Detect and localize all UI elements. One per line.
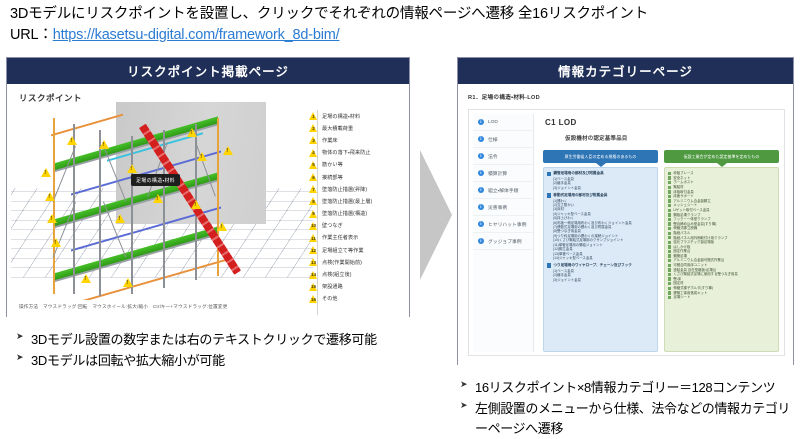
risk-point-label: 点検(組立後) — [322, 271, 352, 278]
breadcrumb: R1．足場の構造・材料-LOD — [468, 93, 540, 101]
risk-point-label: 壁つなぎ — [322, 222, 343, 229]
list-item-label: 足場シート — [673, 295, 690, 300]
risk-point-label: 作業主任者表示 — [322, 234, 358, 241]
risk-point-label: その他 — [322, 295, 338, 302]
risk-marker-4[interactable] — [223, 146, 233, 155]
bullet-square-icon — [668, 172, 671, 175]
bullet-square-icon — [668, 291, 671, 294]
bullet-square-icon — [668, 199, 671, 202]
bullet-item: ➤16リスクポイント×8情報カテゴリー＝128コンテンツ — [460, 378, 795, 398]
heading-line-1: 3Dモデルにリスクポイントを設置し、クリックでそれぞれの情報ページへ遷移 全16… — [10, 4, 790, 25]
bullet-square-icon — [668, 287, 671, 290]
list-item: 足場シート — [668, 295, 775, 300]
content-columns: 厚生労働省人臣の定める規格のあるもの鋼管足場用の部材及び附属金具(1)ベース金具… — [543, 150, 779, 352]
risk-point-item-16[interactable]: 16その他 — [309, 293, 404, 305]
info-dot-icon — [478, 204, 484, 210]
menu-item-2[interactable]: 法令 — [473, 148, 533, 165]
chevron-bullet-icon: ➤ — [460, 399, 475, 413]
risk-marker-15[interactable] — [81, 274, 91, 283]
scaffold-top-ledger — [51, 114, 123, 137]
risk-marker-1[interactable] — [67, 136, 77, 145]
bullet-square-icon — [668, 245, 671, 248]
bullet-square-icon — [668, 264, 671, 267]
risk-point-marker-icon: 1 — [309, 112, 318, 120]
page-heading: 3Dモデルにリスクポイントを設置し、クリックでそれぞれの情報ページへ遷移 全16… — [10, 4, 790, 46]
risk-point-item-4[interactable]: 4物体の落下・飛来防止 — [309, 147, 404, 159]
risk-point-marker-icon: 3 — [309, 136, 318, 144]
risk-point-label: 接続部等 — [322, 174, 343, 181]
risk-marker-11[interactable] — [153, 194, 163, 203]
model-operation-caption: 操作方法 マウスドラッグ:回転 マウスホイール:拡大/縮小 Ctrlキー+マウス… — [19, 304, 228, 310]
bullet-square-icon — [668, 227, 671, 230]
risk-point-item-10[interactable]: 10壁つなぎ — [309, 220, 404, 232]
risk-point-marker-icon: 14 — [309, 271, 318, 279]
menu-item-5[interactable]: 災害事例 — [473, 199, 533, 216]
content-column-blue: 厚生労働省人臣の定める規格のあるもの鋼管足場用の部材及び附属金具(1)ベース金具… — [543, 150, 658, 352]
risk-point-label: 架設通路 — [322, 283, 343, 290]
list-item-label: くさび緊結式足場に使用する壁つなぎ用具 — [673, 272, 737, 277]
info-dot-icon — [478, 136, 484, 142]
risk-point-label: 墜落防止措置(構造) — [322, 210, 367, 217]
column-header: 厚生労働省人臣の定める規格のあるもの — [543, 150, 658, 163]
menu-item-label: 災害事例 — [488, 204, 507, 211]
bullet-square-icon — [668, 236, 671, 239]
risk-point-item-3[interactable]: 3作業床 — [309, 134, 404, 146]
info-dot-icon — [478, 119, 484, 125]
bullet-square-icon — [547, 193, 551, 197]
menu-item-label: 組立・解体手順 — [488, 187, 518, 194]
risk-point-page-panel: リスクポイント掲載ページ リスクポイント — [6, 57, 410, 317]
info-dot-icon — [478, 187, 484, 193]
bullet-square-icon — [668, 209, 671, 212]
menu-item-label: 仕様 — [488, 136, 498, 143]
risk-marker-8[interactable] — [47, 214, 57, 223]
risk-point-item-5[interactable]: 5筋かい等 — [309, 159, 404, 171]
bullet-square-icon — [668, 277, 671, 280]
bullet-text: 左側設置のメニューから仕様、法令などの情報カテゴリーページへ遷移 — [475, 399, 795, 439]
bullet-square-icon — [668, 190, 671, 193]
risk-point-marker-icon: 10 — [309, 222, 318, 230]
risk-marker-14[interactable] — [217, 222, 227, 231]
risk-point-item-15[interactable]: 15架設通路 — [309, 281, 404, 293]
risk-marker-10[interactable] — [127, 164, 137, 173]
content-column-green: 仮設工業会が定めた認定基準を定めたもの枠組ブレース安全ネットホームポスト緊結材床… — [664, 150, 779, 352]
column-body: 枠組ブレース安全ネットホームポスト緊結材床板取付金具床面サポートアルミニウム合金… — [664, 167, 779, 352]
bullet-square-icon — [668, 250, 671, 253]
column-body: 鋼管足場用の部材及び附属金具(1)ベース金具(2)継手金具(3)ジョイント金具移… — [543, 167, 658, 352]
info-dot-icon — [478, 170, 484, 176]
content-subtitle: 仮設機材の認定基準品目 — [565, 134, 781, 142]
risk-point-item-14[interactable]: 14点検(組立後) — [309, 268, 404, 280]
risk-point-marker-icon: 4 — [309, 149, 318, 157]
risk-marker-9[interactable] — [51, 238, 61, 247]
risk-point-marker-icon: 11 — [309, 234, 318, 242]
risk-marker-7[interactable] — [45, 192, 55, 201]
three-d-model-viewer[interactable]: 足場の構造・材料 — [11, 102, 313, 300]
risk-marker-12[interactable] — [191, 200, 201, 209]
spacer — [547, 282, 654, 285]
risk-point-marker-icon: 13 — [309, 258, 318, 266]
risk-point-marker-icon: 2 — [309, 124, 318, 132]
risk-point-label: 墜落防止措置(昇降) — [322, 186, 367, 193]
risk-point-label: 点検(作業開始前) — [322, 259, 362, 266]
risk-marker-2[interactable] — [99, 140, 109, 149]
menu-item-6[interactable]: ヒヤリハット事例 — [473, 216, 533, 233]
bullet-square-icon — [668, 268, 671, 271]
left-bullet-list: ➤3Dモデル設置の数字または右のテキストクリックで遷移可能➤3Dモデルは回転や拡… — [16, 330, 436, 372]
risk-point-label: 足場組立て等作業 — [322, 247, 364, 254]
risk-point-marker-icon: 8 — [309, 197, 318, 205]
menu-item-label: 法令 — [488, 153, 498, 160]
group-title: 鋼管足場用の部材及び附属金具 — [553, 171, 603, 175]
menu-item-7[interactable]: グッジョブ事例 — [473, 233, 533, 250]
left-panel-header: リスクポイント掲載ページ — [7, 58, 409, 84]
risk-marker-13[interactable] — [115, 214, 125, 223]
risk-point-label: 最大積載荷重 — [322, 125, 353, 132]
flow-arrow-icon — [414, 150, 458, 280]
risk-point-item-13[interactable]: 13点検(作業開始前) — [309, 256, 404, 268]
risk-point-label: 物体の落下・飛来防止 — [322, 149, 371, 156]
bullet-square-icon — [668, 241, 671, 244]
model-tooltip: 足場の構造・材料 — [131, 174, 180, 186]
menu-item-label: LOD — [488, 120, 498, 125]
risk-point-marker-icon: 7 — [309, 185, 318, 193]
risk-point-label: 足場の構造・材料 — [322, 113, 360, 120]
bullet-square-icon — [668, 176, 671, 179]
risk-point-item-1[interactable]: 1足場の構造・材料 — [309, 110, 404, 122]
risk-point-marker-icon: 5 — [309, 161, 318, 169]
bullet-item: ➤3Dモデルは回転や拡大縮小が可能 — [16, 351, 436, 371]
bullet-text: 16リスクポイント×8情報カテゴリー＝128コンテンツ — [475, 378, 795, 398]
risk-point-item-8[interactable]: 8墜落防止措置(最上層) — [309, 195, 404, 207]
risk-point-marker-icon: 9 — [309, 210, 318, 218]
risk-marker-6[interactable] — [41, 168, 51, 177]
chevron-bullet-icon: ➤ — [16, 351, 31, 365]
risk-point-item-2[interactable]: 2最大積載荷重 — [309, 122, 404, 134]
risk-point-marker-icon: 16 — [309, 295, 318, 303]
content-title: C1 LOD — [545, 118, 781, 127]
bullet-square-icon — [668, 186, 671, 189]
scaffold-post — [99, 130, 101, 296]
menu-item-3[interactable]: 積算計算 — [473, 165, 533, 182]
bullet-square-icon — [668, 259, 671, 262]
risk-point-label: 筋かい等 — [322, 161, 343, 168]
menu-item-label: グッジョブ事例 — [488, 238, 522, 245]
scaffold-post — [217, 118, 219, 276]
bullet-square-icon — [547, 263, 551, 267]
info-dot-icon — [478, 153, 484, 159]
right-bullet-list: ➤16リスクポイント×8情報カテゴリー＝128コンテンツ➤左側設置のメニューから… — [460, 378, 795, 439]
bullet-square-icon — [668, 254, 671, 257]
column-header: 仮設工業会が定めた認定基準を定めたもの — [664, 150, 779, 163]
scaffold-post — [53, 118, 55, 294]
menu-item-4[interactable]: 組立・解体手順 — [473, 182, 533, 199]
bullet-item: ➤3Dモデル設置の数字または右のテキストクリックで遷移可能 — [16, 330, 436, 350]
category-content-area: C1 LOD 仮設機材の認定基準品目 厚生労働省人臣の定める規格のあるもの鋼管足… — [539, 114, 781, 352]
bullet-square-icon — [668, 222, 671, 225]
risk-point-list: 1足場の構造・材料2最大積載荷重3作業床4物体の落下・飛来防止5筋かい等6接続部… — [309, 110, 404, 305]
heading-line-2: URL：https://kasetsu-digital.com/framewor… — [10, 25, 790, 46]
bullet-square-icon — [668, 232, 671, 235]
menu-item-label: ヒヤリハット事例 — [488, 221, 526, 228]
bullet-square-icon — [668, 282, 671, 285]
risk-point-label: 作業床 — [322, 137, 338, 144]
bullet-square-icon — [668, 213, 671, 216]
left-panel-body: リスクポイント — [7, 84, 409, 317]
bullet-square-icon — [668, 273, 671, 276]
menu-item-1[interactable]: 仕様 — [473, 131, 533, 148]
group-header: 移動式足場用の部材及び附属金具 — [547, 193, 654, 198]
bullet-text: 3Dモデルは回転や拡大縮小が可能 — [31, 351, 436, 371]
info-page-frame: LOD仕様法令積算計算組立・解体手順災害事例ヒヤリハット事例グッジョブ事例 C1… — [468, 109, 785, 356]
risk-point-marker-icon: 15 — [309, 283, 318, 291]
bullet-text: 3Dモデル設置の数字または右のテキストクリックで遷移可能 — [31, 330, 436, 350]
bullet-square-icon — [668, 218, 671, 221]
menu-item-label: 積算計算 — [488, 170, 507, 177]
info-dot-icon — [478, 221, 484, 227]
right-panel-body: R1．足場の構造・材料-LOD LOD仕様法令積算計算組立・解体手順災害事例ヒヤ… — [458, 84, 793, 365]
risk-point-label: 墜落防止措置(最上層) — [322, 198, 372, 205]
bullet-square-icon — [668, 181, 671, 184]
bullet-square-icon — [668, 204, 671, 207]
bullet-item: ➤左側設置のメニューから仕様、法令などの情報カテゴリーページへ遷移 — [460, 399, 795, 439]
group-title: 移動式足場用の部材及び附属金具 — [553, 193, 607, 197]
url-label: URL： — [10, 27, 53, 43]
category-side-menu: LOD仕様法令積算計算組立・解体手順災害事例ヒヤリハット事例グッジョブ事例 — [473, 114, 534, 352]
bullet-square-icon — [547, 172, 551, 176]
bullet-square-icon — [668, 296, 671, 299]
info-dot-icon — [478, 238, 484, 244]
chevron-bullet-icon: ➤ — [16, 330, 31, 344]
info-category-page-panel: 情報カテゴリーページ R1．足場の構造・材料-LOD LOD仕様法令積算計算組立… — [457, 57, 794, 365]
group-header: 鋼管足場用の部材及び附属金具 — [547, 171, 654, 176]
risk-point-marker-icon: 6 — [309, 173, 318, 181]
risk-marker-5[interactable] — [197, 152, 207, 161]
risk-point-marker-icon: 12 — [309, 246, 318, 254]
right-panel-header: 情報カテゴリーページ — [458, 58, 793, 84]
risk-point-item-7[interactable]: 7墜落防止措置(昇降) — [309, 183, 404, 195]
chevron-bullet-icon: ➤ — [460, 378, 475, 392]
scaffold-post — [131, 136, 133, 294]
group-header: つり足場用のワイヤロープ、チェーン及びフック — [547, 263, 654, 268]
menu-item-0[interactable]: LOD — [473, 114, 533, 131]
bullet-square-icon — [668, 195, 671, 198]
risk-marker-16[interactable] — [123, 278, 133, 287]
risk-marker-3[interactable] — [187, 128, 197, 137]
risk-point-item-9[interactable]: 9墜落防止措置(構造) — [309, 208, 404, 220]
risk-point-item-12[interactable]: 12足場組立て等作業 — [309, 244, 404, 256]
url-link[interactable]: https://kasetsu-digital.com/framework_8d… — [53, 27, 340, 43]
risk-point-item-11[interactable]: 11作業主任者表示 — [309, 232, 404, 244]
group-title: つり足場用のワイヤロープ、チェーン及びフック — [553, 263, 631, 267]
risk-point-item-6[interactable]: 6接続部等 — [309, 171, 404, 183]
